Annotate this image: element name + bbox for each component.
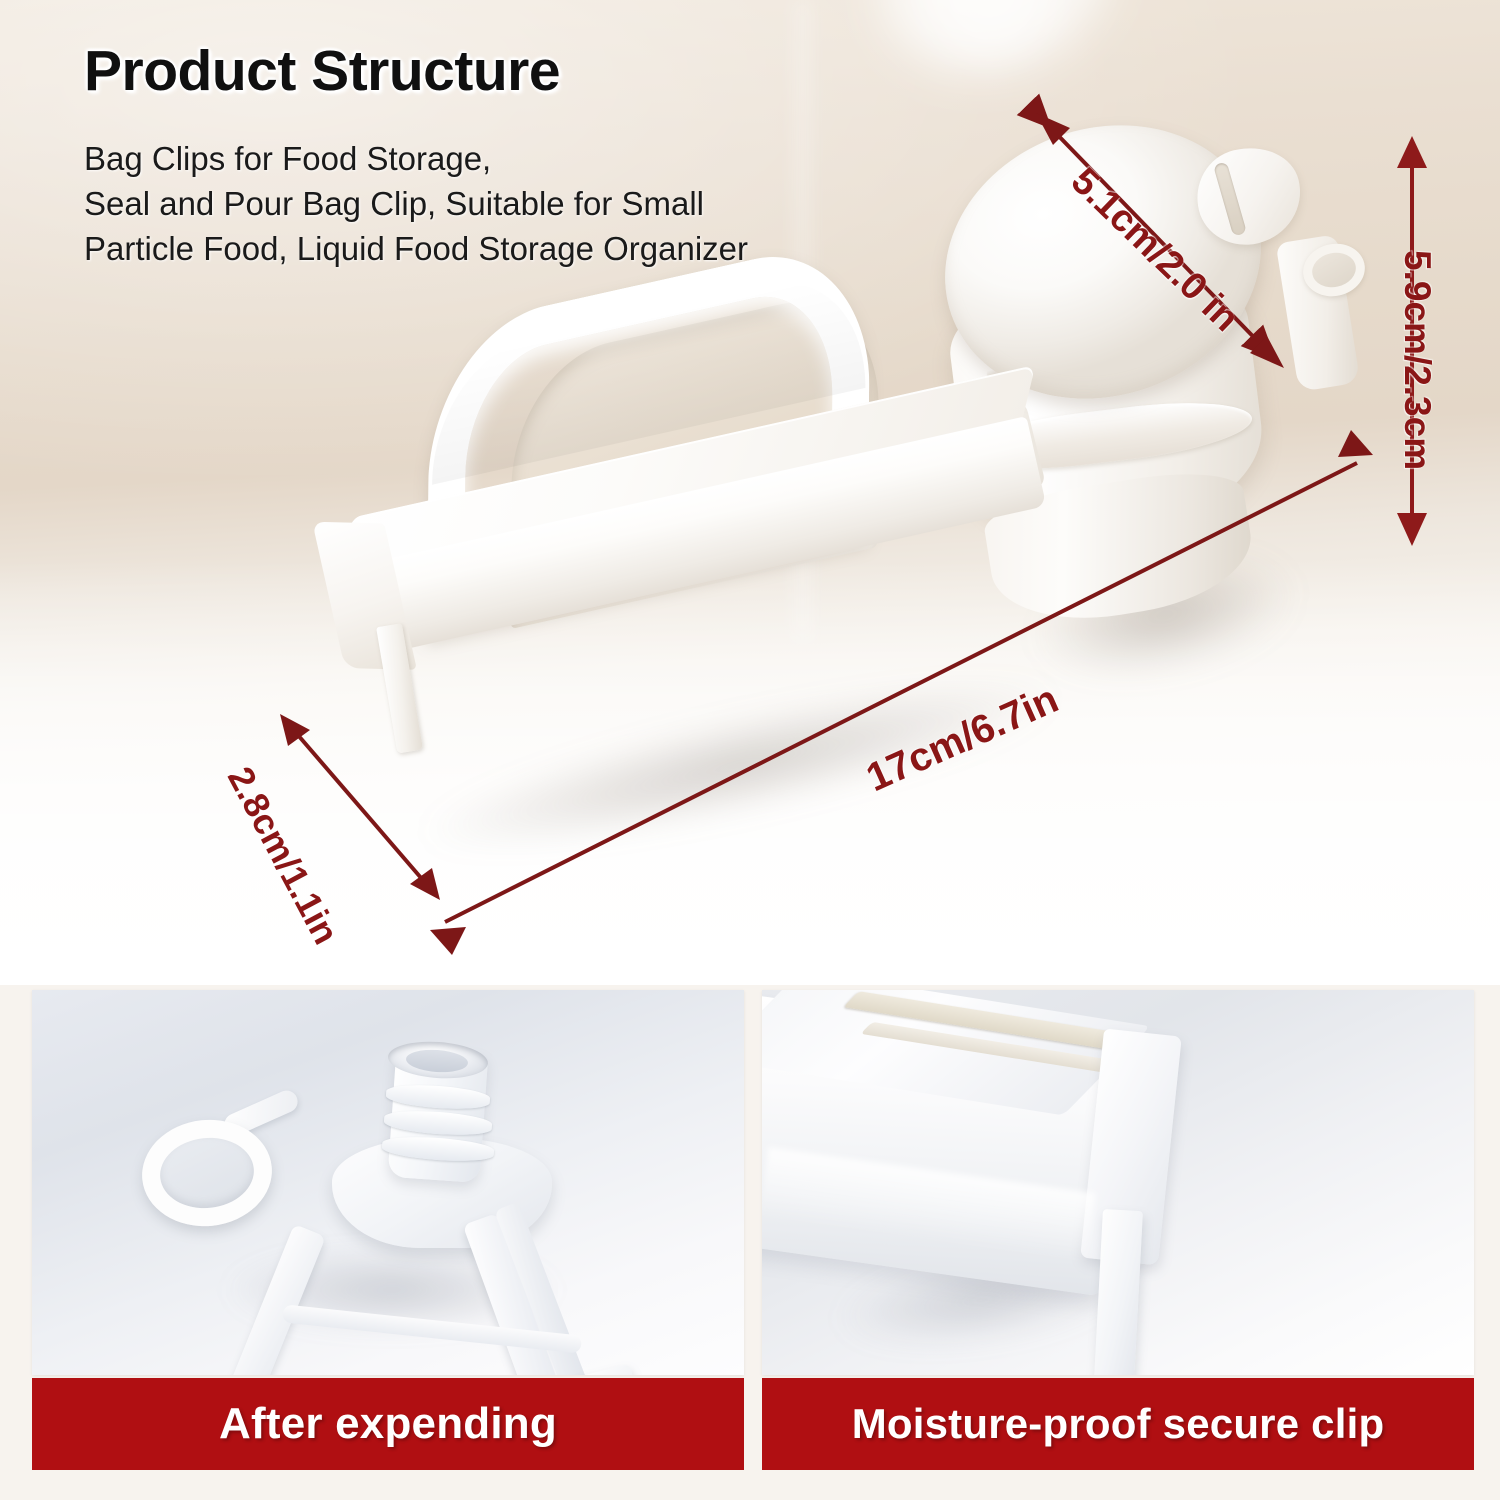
caption-after-expending: After expending — [32, 1378, 744, 1470]
caption-moisture-proof: Moisture-proof secure clip — [762, 1378, 1474, 1470]
product-infographic: 5.1cm/2.0 in 5.9cm/2.3cm 17cm/6.7in 2.8c… — [0, 0, 1500, 1500]
subtitle-line-1: Bag Clips for Food Storage, — [84, 136, 944, 181]
panel-after-expending — [32, 990, 744, 1375]
subtitle-line-2: Seal and Pour Bag Clip, Suitable for Sma… — [84, 181, 944, 226]
page-title: Product Structure — [84, 38, 560, 104]
page-subtitle: Bag Clips for Food Storage, Seal and Pou… — [84, 136, 944, 271]
panel-moisture-proof — [762, 990, 1474, 1375]
subtitle-line-3: Particle Food, Liquid Food Storage Organ… — [84, 226, 944, 271]
hero-product-photo: 5.1cm/2.0 in 5.9cm/2.3cm 17cm/6.7in 2.8c… — [0, 0, 1500, 985]
